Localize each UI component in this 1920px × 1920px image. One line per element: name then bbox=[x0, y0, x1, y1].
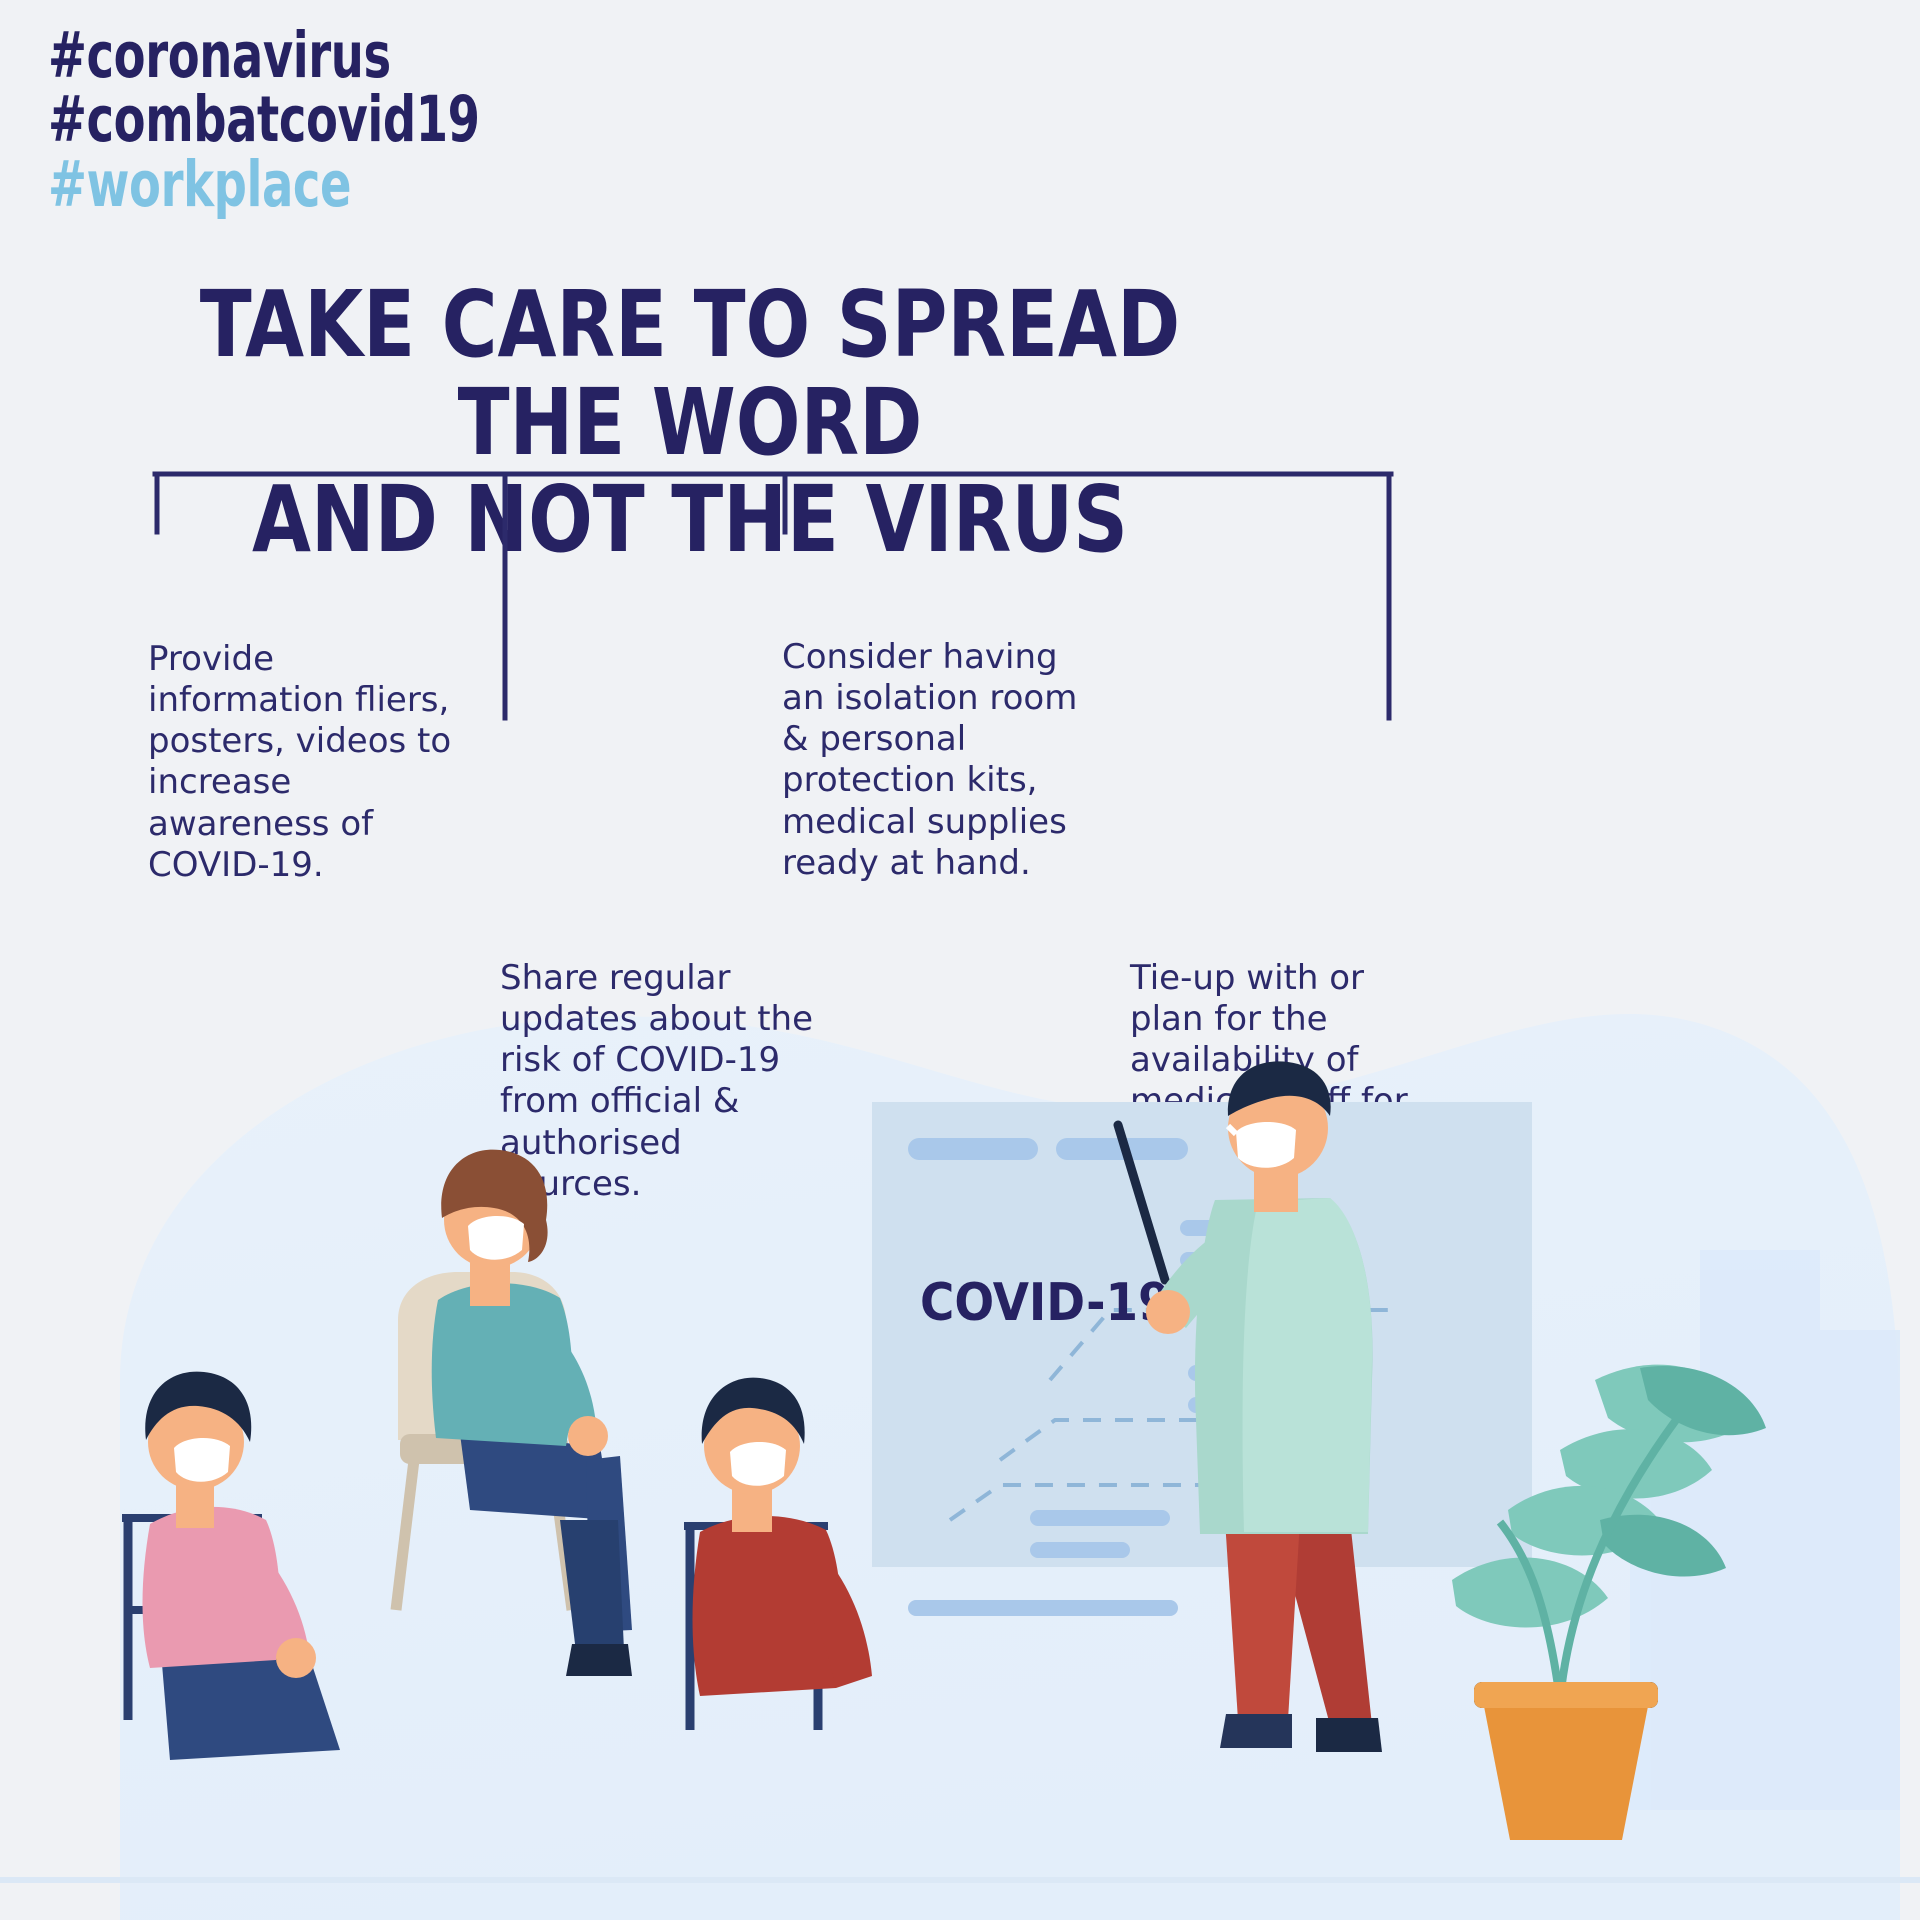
hashtag-group: #coronavirus #combatcovid19 #workplace bbox=[48, 24, 574, 217]
audience-member-2 bbox=[396, 1150, 632, 1676]
audience-member-1 bbox=[118, 1372, 340, 1760]
whiteboard-label: COVID-19 bbox=[920, 1273, 1171, 1333]
hashtag-workplace: #workplace bbox=[48, 153, 480, 217]
poster-canvas: #coronavirus #combatcovid19 #workplace T… bbox=[0, 0, 1920, 1920]
training-session-illustration: COVID-19 bbox=[0, 820, 1920, 1920]
audience-member-3 bbox=[684, 1378, 872, 1730]
hashtag-coronavirus: #coronavirus bbox=[48, 24, 480, 88]
hashtag-combatcovid19: #combatcovid19 bbox=[48, 88, 480, 152]
